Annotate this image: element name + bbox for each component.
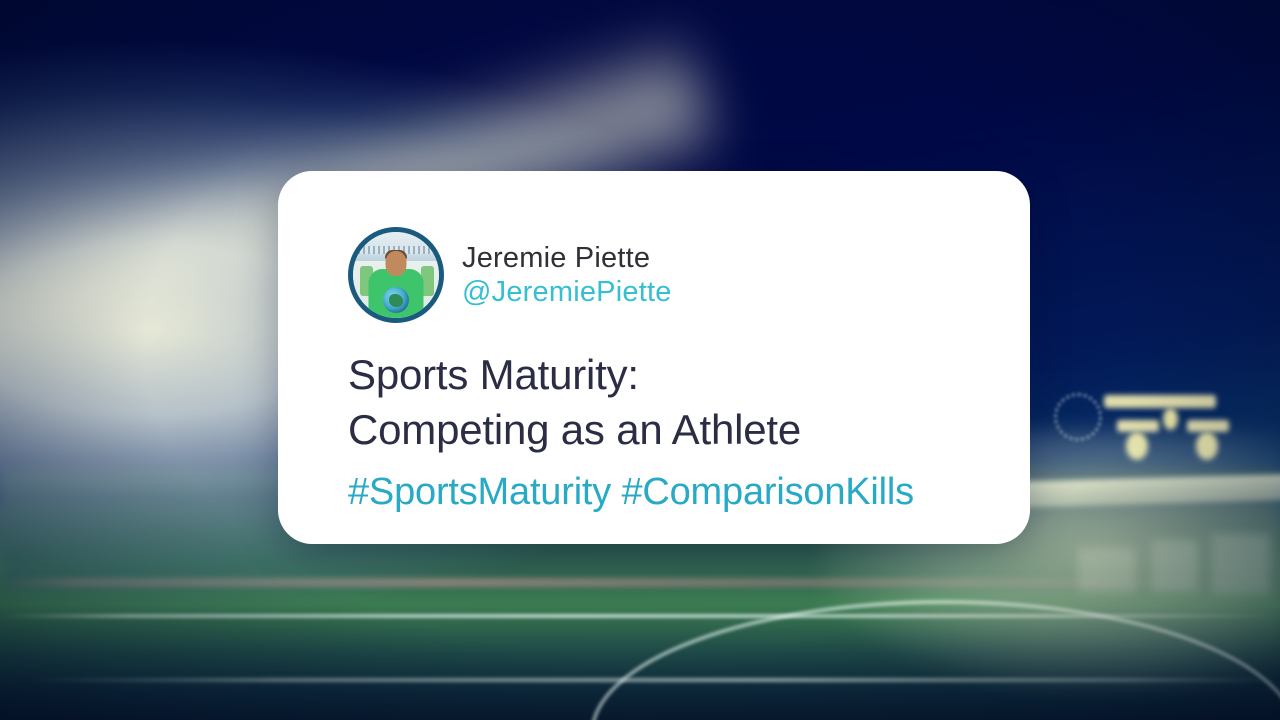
stadium-stand-block-1 bbox=[1152, 540, 1198, 592]
avatar[interactable] bbox=[348, 227, 444, 323]
stadium-clock-icon bbox=[1054, 393, 1102, 441]
stadium-barrier-rail bbox=[0, 578, 1280, 587]
floodlight-bulb-right bbox=[1196, 432, 1218, 460]
pitch-line-near bbox=[0, 678, 1280, 682]
stadium-stand-block-3 bbox=[1078, 548, 1136, 592]
floodlight-bulb-left bbox=[1126, 432, 1148, 460]
floodlight-bar-left bbox=[1117, 420, 1159, 432]
pitch-line-far bbox=[0, 614, 1280, 618]
avatar-shirt-globe-icon bbox=[383, 287, 409, 313]
stadium-roof-beam bbox=[1010, 474, 1280, 508]
author-handle[interactable]: @JeremiePiette bbox=[462, 276, 672, 308]
tweet-card: Jeremie Piette @JeremiePiette Sports Mat… bbox=[278, 171, 1030, 544]
tweet-hashtags[interactable]: #SportsMaturity #ComparisonKills bbox=[348, 470, 1030, 516]
stadium-stand-block-2 bbox=[1212, 534, 1270, 594]
slide-stage: Jeremie Piette @JeremiePiette Sports Mat… bbox=[0, 0, 1280, 720]
floodlight-bar-right bbox=[1187, 420, 1229, 432]
floodlight-bulb-center bbox=[1163, 408, 1178, 430]
floodlight-bar-top bbox=[1104, 395, 1216, 408]
tweet-author-row: Jeremie Piette @JeremiePiette bbox=[348, 227, 1030, 323]
tweet-author-text: Jeremie Piette @JeremiePiette bbox=[462, 242, 672, 309]
author-display-name: Jeremie Piette bbox=[462, 242, 672, 274]
tweet-title: Sports Maturity: Competing as an Athlete bbox=[348, 347, 1030, 458]
tweet-card-content: Jeremie Piette @JeremiePiette Sports Mat… bbox=[278, 171, 1030, 544]
avatar-person-face bbox=[386, 251, 407, 276]
pitch-centre-circle-arc bbox=[590, 600, 1280, 720]
